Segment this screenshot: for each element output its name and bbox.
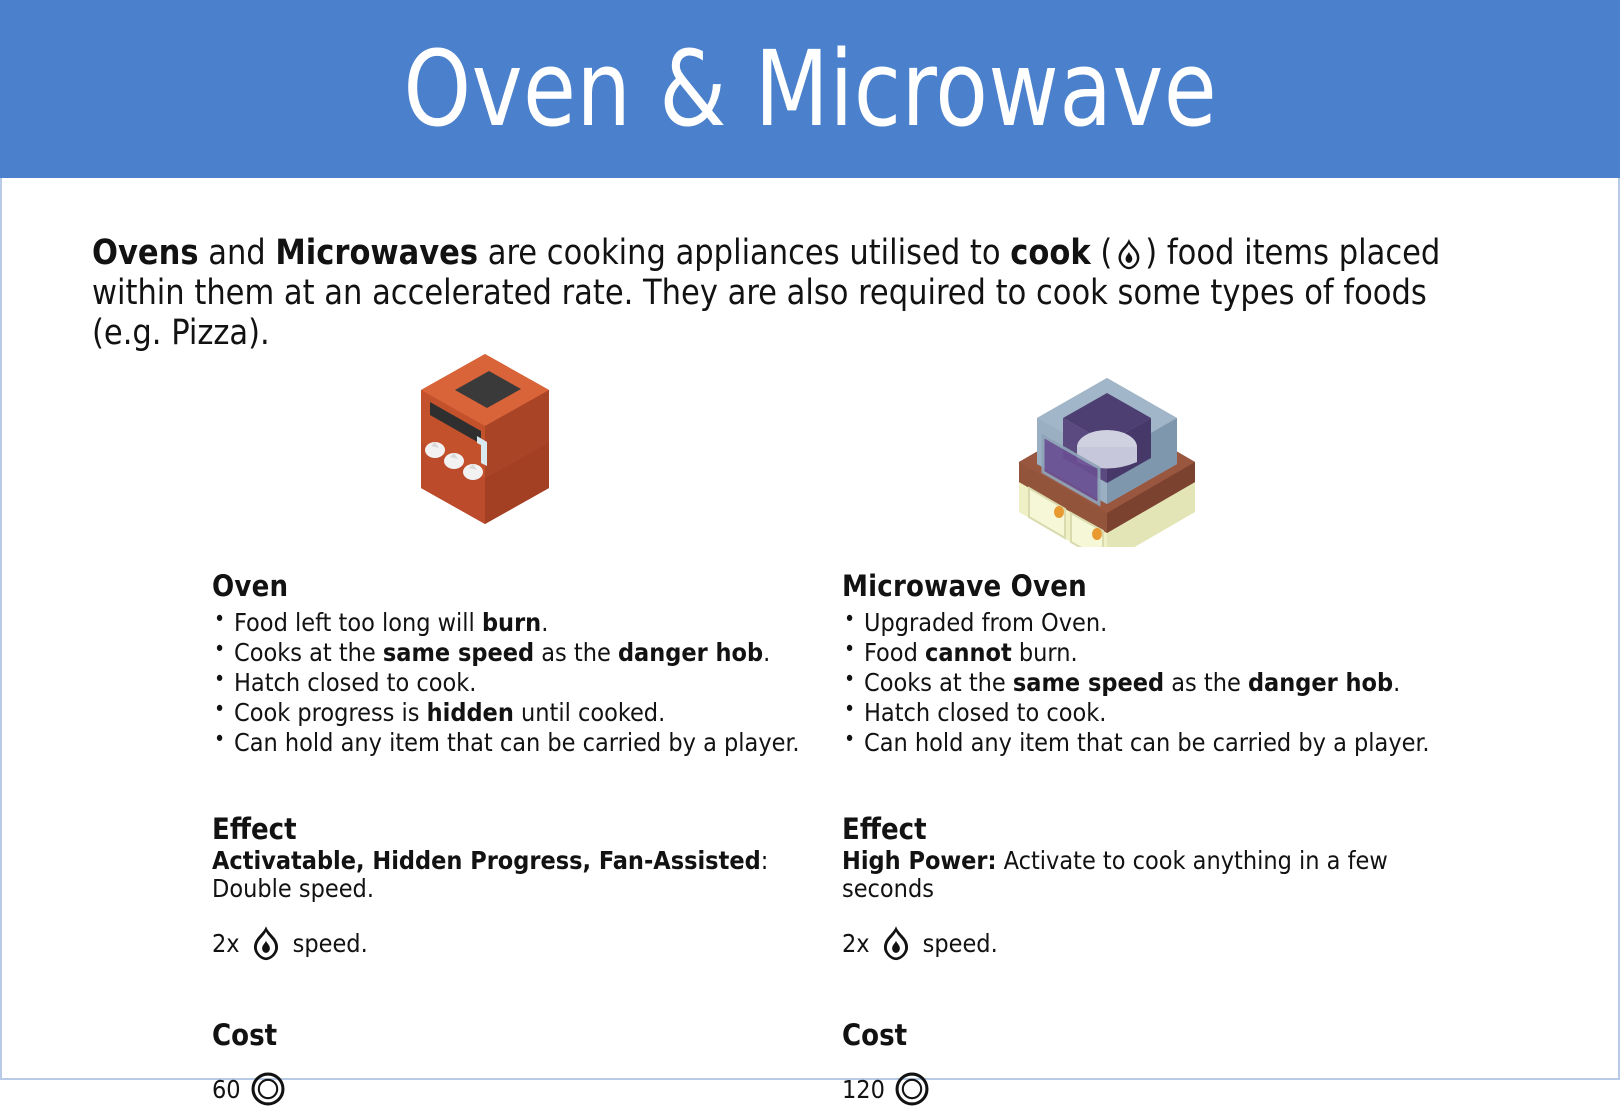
feature-text: Hatch closed to cook. (234, 668, 476, 697)
feature-text-post: until cooked. (514, 698, 665, 727)
oven-effect-bold: Activatable, Hidden Progress, Fan-Assist… (212, 846, 761, 875)
coin-icon (251, 1072, 285, 1106)
list-item: Hatch closed to cook. (212, 669, 812, 696)
microwave-speed-line: 2x speed. (842, 924, 1442, 962)
list-item: Can hold any item that can be carried by… (842, 729, 1442, 756)
list-item: Food left too long will burn. (212, 609, 812, 636)
oven-speed-label: speed. (293, 929, 368, 958)
feature-bold: burn (482, 608, 541, 637)
microwave-effect-bold: High Power: (842, 846, 997, 875)
intro-bold-microwaves: Microwaves (275, 233, 478, 273)
feature-text: Cooks at the (864, 668, 1013, 697)
oven-effect-line: Activatable, Hidden Progress, Fan-Assist… (212, 847, 812, 902)
oven-art-container (112, 332, 812, 547)
microwave-speed-value: 2x (842, 929, 870, 958)
oven-column: Oven Food left too long will burn. Cooks… (112, 332, 812, 1106)
microwave-art-container (742, 332, 1442, 547)
feature-text: Cooks at the (234, 638, 383, 667)
oven-effect-heading: Effect (212, 812, 812, 846)
list-item: Can hold any item that can be carried by… (212, 729, 812, 756)
microwave-cost-value: 120 (842, 1075, 885, 1104)
flame-icon (247, 924, 285, 962)
oven-cost-value: 60 (212, 1075, 241, 1104)
microwave-illustration (1007, 332, 1207, 547)
microwave-cost-heading: Cost (842, 1018, 1442, 1052)
page-header-banner: Oven & Microwave (0, 0, 1620, 178)
feature-bold-2: danger hob (1248, 668, 1393, 697)
feature-text-post: . (541, 608, 548, 637)
feature-text-post: burn. (1012, 638, 1078, 667)
microwave-effect-line: High Power: Activate to cook anything in… (842, 847, 1442, 902)
microwave-title: Microwave Oven (842, 569, 1442, 603)
feature-text: Food (864, 638, 925, 667)
oven-title: Oven (212, 569, 812, 603)
intro-text-and: and (199, 233, 276, 273)
oven-cost-heading: Cost (212, 1018, 812, 1052)
intro-bold-cook: cook (1010, 233, 1090, 273)
oven-details: Oven Food left too long will burn. Cooks… (112, 547, 812, 1106)
intro-bold-ovens: Ovens (92, 233, 199, 273)
list-item: Cook progress is hidden until cooked. (212, 699, 812, 726)
feature-text-post: . (1393, 668, 1400, 697)
microwave-effect-heading: Effect (842, 812, 1442, 846)
feature-text: Food left too long will (234, 608, 482, 637)
microwave-details: Microwave Oven Upgraded from Oven. Food … (742, 547, 1442, 1106)
wiki-page: Oven & Microwave Ovens and Microwaves ar… (0, 0, 1620, 1080)
oven-feature-list: Food left too long will burn. Cooks at t… (212, 609, 812, 756)
list-item: Cooks at the same speed as the danger ho… (212, 639, 812, 666)
list-item: Hatch closed to cook. (842, 699, 1442, 726)
page-title: Oven & Microwave (403, 37, 1217, 141)
microwave-feature-list: Upgraded from Oven. Food cannot burn. Co… (842, 609, 1442, 756)
feature-text: Can hold any item that can be carried by… (864, 728, 1430, 757)
feature-text: Hatch closed to cook. (864, 698, 1106, 727)
feature-bold: same speed (1013, 668, 1164, 697)
feature-bold: hidden (427, 698, 514, 727)
feature-bold: cannot (925, 638, 1012, 667)
list-item: Upgraded from Oven. (842, 609, 1442, 636)
list-item: Cooks at the same speed as the danger ho… (842, 669, 1442, 696)
feature-text-mid: as the (1164, 668, 1248, 697)
feature-text: Upgraded from Oven. (864, 608, 1107, 637)
flame-icon (877, 924, 915, 962)
coin-icon (895, 1072, 929, 1106)
intro-text-paren-open: ( (1091, 233, 1113, 273)
oven-speed-value: 2x (212, 929, 240, 958)
feature-text: Can hold any item that can be carried by… (234, 728, 800, 757)
microwave-speed-label: speed. (923, 929, 998, 958)
oven-illustration (397, 338, 567, 538)
oven-cost-line: 60 (212, 1072, 812, 1106)
flame-icon (1112, 237, 1145, 271)
feature-text: Cook progress is (234, 698, 427, 727)
list-item: Food cannot burn. (842, 639, 1442, 666)
feature-text-mid: as the (534, 638, 618, 667)
microwave-column: Microwave Oven Upgraded from Oven. Food … (742, 332, 1442, 1106)
microwave-cost-line: 120 (842, 1072, 1442, 1106)
oven-speed-line: 2x speed. (212, 924, 812, 962)
feature-bold: same speed (383, 638, 534, 667)
intro-text-mid: are cooking appliances utilised to (478, 233, 1010, 273)
